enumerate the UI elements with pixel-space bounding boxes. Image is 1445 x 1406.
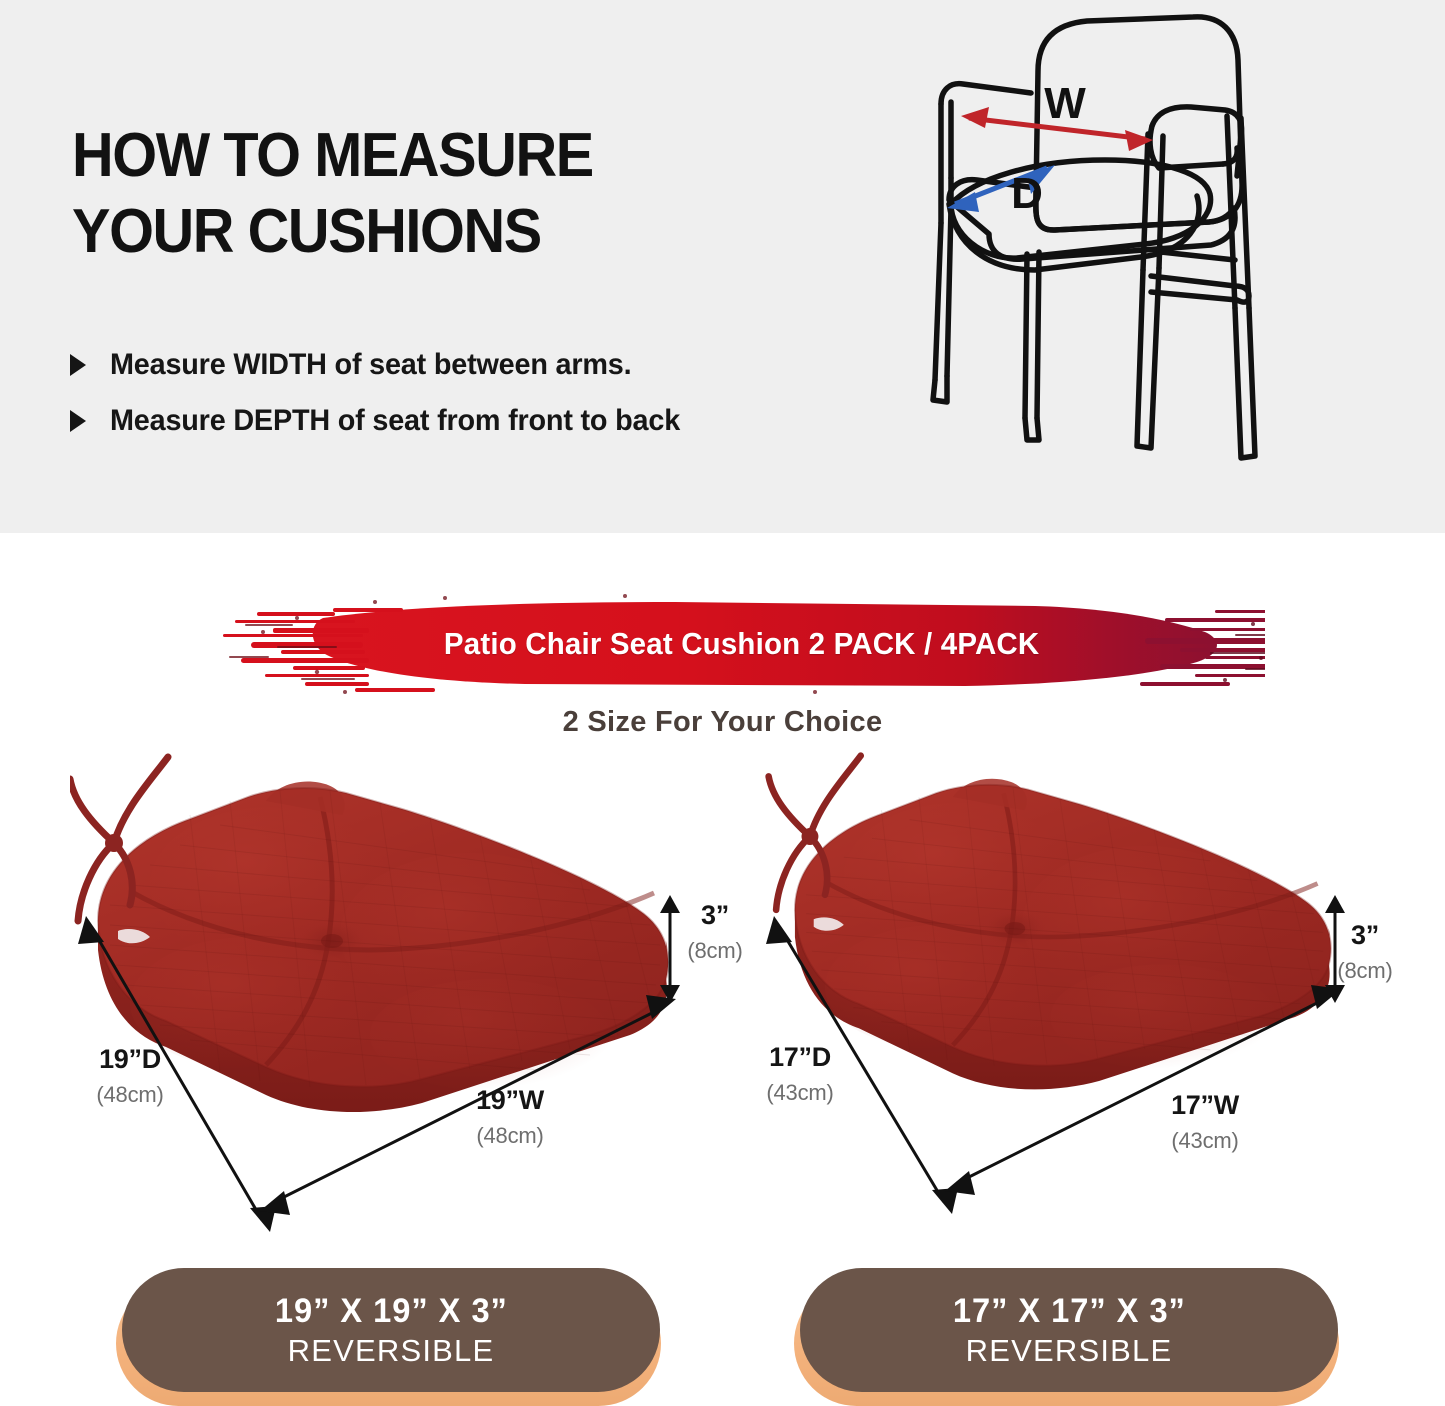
instruction-depth: Measure DEPTH of seat from front to back [110, 404, 680, 438]
chair-measurement-diagram: W D [905, 8, 1325, 588]
product-banner: Patio Chair Seat Cushion 2 PACK / 4PACK [205, 588, 1265, 700]
tie-knot [105, 834, 123, 852]
label-19-thickness: 3” (8cm) [660, 900, 770, 964]
banner-title: Patio Chair Seat Cushion 2 PACK / 4PACK [232, 588, 1239, 700]
badge-19-dimensions: 19” X 19” X 3” [275, 1292, 508, 1331]
badge-19: 19” X 19” X 3” REVERSIBLE [112, 1268, 657, 1396]
badge-17-reversible: REVERSIBLE [966, 1333, 1173, 1369]
cushion-19-group [70, 735, 690, 1235]
triangle-bullet-icon [70, 410, 86, 432]
badge-17: 17” X 17” X 3” REVERSIBLE [790, 1268, 1335, 1396]
label-17-depth: 17”D (43cm) [730, 1042, 870, 1106]
depth-label: D [1011, 169, 1043, 218]
badge-pill: 17” X 17” X 3” REVERSIBLE [800, 1268, 1338, 1392]
measure-instructions-list: Measure WIDTH of seat between arms. Meas… [70, 348, 890, 460]
tie-knot [802, 828, 819, 845]
width-label: W [1044, 79, 1086, 128]
cushion-comparison [0, 735, 1445, 1255]
list-item: Measure WIDTH of seat between arms. [70, 348, 890, 382]
label-19-width: 19”W (48cm) [440, 1085, 580, 1149]
badge-19-reversible: REVERSIBLE [288, 1333, 495, 1369]
label-19-depth: 19”D (48cm) [60, 1044, 200, 1108]
label-17-width: 17”W (43cm) [1135, 1090, 1275, 1154]
label-17-thickness: 3” (8cm) [1310, 920, 1420, 984]
list-item: Measure DEPTH of seat from front to back [70, 404, 890, 438]
badge-pill: 19” X 19” X 3” REVERSIBLE [122, 1268, 660, 1392]
page-title: HOW TO MEASURE YOUR CUSHIONS [72, 118, 723, 269]
triangle-bullet-icon [70, 354, 86, 376]
cushion-17-group [760, 735, 1380, 1235]
instruction-width: Measure WIDTH of seat between arms. [110, 348, 631, 382]
badge-17-dimensions: 17” X 17” X 3” [953, 1292, 1186, 1331]
